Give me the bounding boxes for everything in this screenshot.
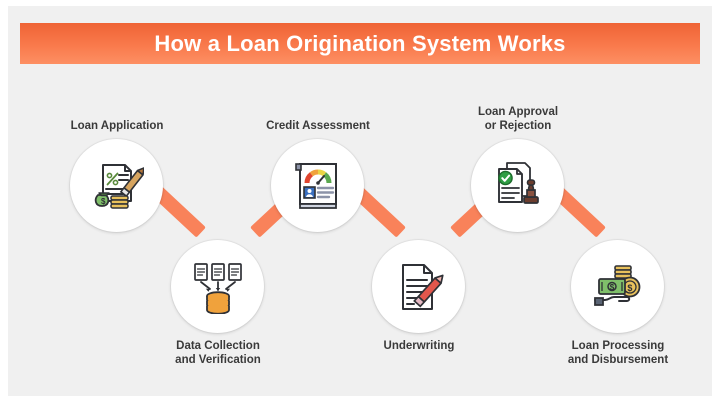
credit-assessment-icon <box>291 159 345 213</box>
step-label-loan-approval: Loan Approval or Rejection <box>418 105 618 133</box>
step-circle[interactable]: $ <box>70 139 163 232</box>
step-node-data-collection[interactable]: Data Collection and Verification <box>171 240 264 333</box>
step-node-credit-assessment[interactable]: Credit Assessment <box>271 139 364 232</box>
step-circle[interactable] <box>372 240 465 333</box>
underwriting-icon <box>392 260 446 314</box>
infographic-screen: How a Loan Origination System Works <box>0 0 720 404</box>
page-title: How a Loan Origination System Works <box>154 31 565 57</box>
infographic-canvas: How a Loan Origination System Works <box>8 6 712 396</box>
loan-application-icon: $ <box>90 159 144 213</box>
step-node-loan-approval[interactable]: Loan Approval or Rejection <box>471 139 564 232</box>
loan-approval-icon <box>491 159 545 213</box>
step-label-data-collection: Data Collection and Verification <box>118 339 318 367</box>
step-node-underwriting[interactable]: Underwriting <box>372 240 465 333</box>
step-label-loan-disbursement: Loan Processing and Disbursement <box>518 339 712 367</box>
step-node-loan-application[interactable]: $ Loan Application <box>70 139 163 232</box>
loan-disbursement-icon: $ $ <box>591 260 645 314</box>
data-collection-icon <box>191 260 245 314</box>
step-label-loan-application: Loan Application <box>17 119 217 133</box>
step-node-loan-disbursement[interactable]: $ $ Loan Processing and Disbursement <box>571 240 664 333</box>
svg-text:$: $ <box>101 197 106 206</box>
step-label-underwriting: Underwriting <box>319 339 519 353</box>
svg-text:$: $ <box>609 282 614 291</box>
step-circle[interactable]: $ $ <box>571 240 664 333</box>
step-circle[interactable] <box>471 139 564 232</box>
step-circle[interactable] <box>171 240 264 333</box>
step-label-credit-assessment: Credit Assessment <box>218 119 418 133</box>
step-circle[interactable] <box>271 139 364 232</box>
title-banner: How a Loan Origination System Works <box>20 23 700 64</box>
svg-text:$: $ <box>627 282 632 292</box>
